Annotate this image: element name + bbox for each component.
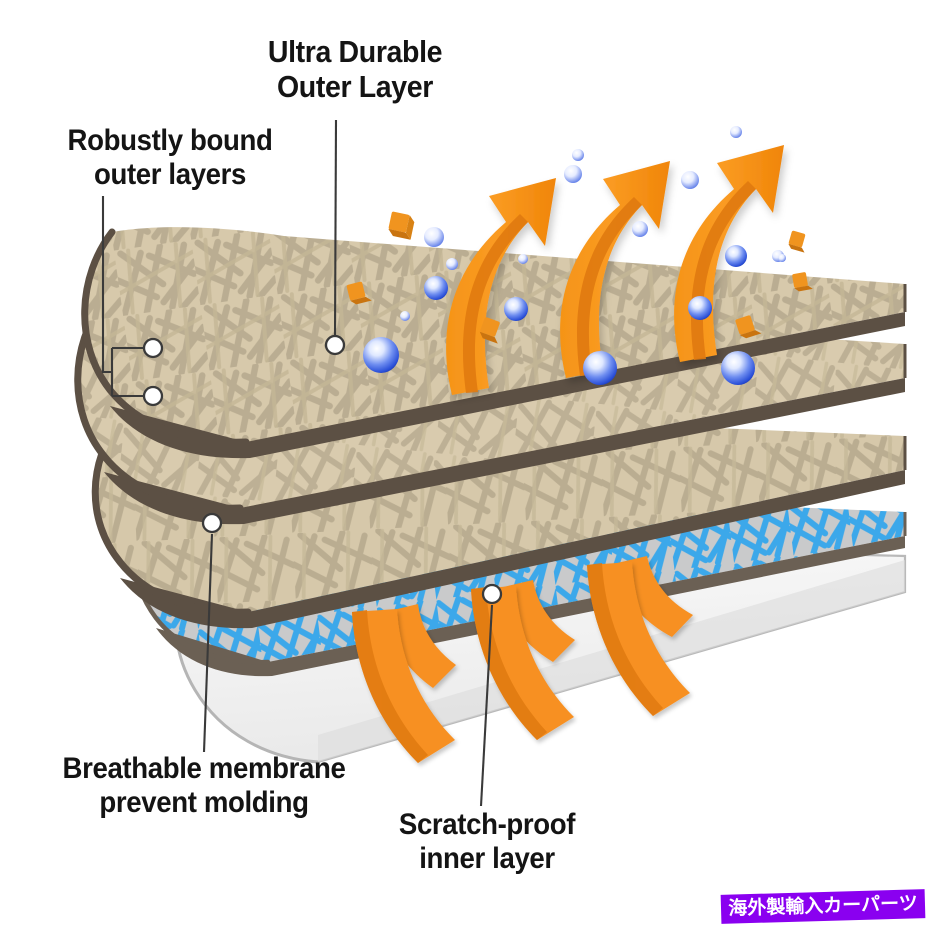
label-scratch-proof-inner-layer: Scratch-proof inner layer [363, 808, 611, 876]
watermark-text: 海外製輸入カーパーツ [722, 890, 925, 923]
watermark-badge: 海外製輸入カーパーツ [722, 890, 925, 923]
infographic-canvas: Ultra Durable Outer Layer Robustly bound… [0, 0, 930, 930]
label-robustly-bound-outer-layers: Robustly bound outer layers [23, 124, 317, 192]
label-breathable-membrane: Breathable membrane prevent molding [20, 752, 388, 820]
label-ultra-durable-outer-layer: Ultra Durable Outer Layer [212, 34, 497, 105]
